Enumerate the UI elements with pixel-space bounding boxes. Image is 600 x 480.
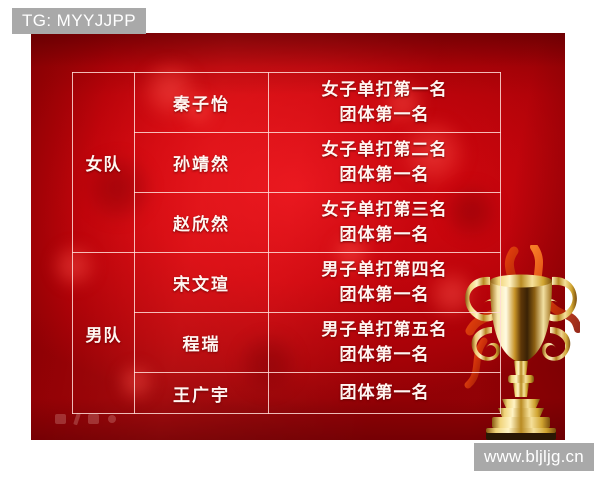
table-row: 程瑞 男子单打第五名 团体第一名 [73,313,501,373]
achievement-cell: 女子单打第二名 团体第一名 [269,133,501,193]
achievement-line: 团体第一名 [269,223,500,248]
athlete-name-cell: 赵欣然 [135,193,269,253]
achievement-line: 团体第一名 [269,343,500,368]
athlete-name-cell: 秦子怡 [135,73,269,133]
table-row: 男队 宋文瑄 男子单打第四名 团体第一名 [73,253,501,313]
achievement-cell: 女子单打第三名 团体第一名 [269,193,501,253]
achievement-line: 团体第一名 [269,283,500,308]
watermark-top-left: TG: MYYJJPP [12,8,146,34]
watermark-bottom-right: www.bljljg.cn [474,443,594,471]
achievement-line: 团体第一名 [269,381,500,406]
achievement-line: 女子单打第一名 [269,78,500,103]
athlete-name-cell: 孙靖然 [135,133,269,193]
achievement-cell: 男子单打第五名 团体第一名 [269,313,501,373]
achievement-line: 女子单打第三名 [269,198,500,223]
achievement-cell: 团体第一名 [269,373,501,414]
team-cell-womens: 女队 [73,73,135,253]
faint-watermark-glyphs [55,412,151,426]
table-row: 孙靖然 女子单打第二名 团体第一名 [73,133,501,193]
achievement-cell: 男子单打第四名 团体第一名 [269,253,501,313]
athlete-name-cell: 王广宇 [135,373,269,414]
competition-results-table: 女队 秦子怡 女子单打第一名 团体第一名 孙靖然 女子单打第二名 团体第一名 赵… [72,72,501,414]
table-row: 赵欣然 女子单打第三名 团体第一名 [73,193,501,253]
athlete-name-cell: 宋文瑄 [135,253,269,313]
table-row: 女队 秦子怡 女子单打第一名 团体第一名 [73,73,501,133]
achievement-line: 团体第一名 [269,103,500,128]
achievement-cell: 女子单打第一名 团体第一名 [269,73,501,133]
achievement-line: 男子单打第五名 [269,318,500,343]
achievement-line: 团体第一名 [269,163,500,188]
athlete-name-cell: 程瑞 [135,313,269,373]
achievement-line: 女子单打第二名 [269,138,500,163]
achievement-line: 男子单打第四名 [269,258,500,283]
team-cell-mens: 男队 [73,253,135,414]
table-row: 王广宇 团体第一名 [73,373,501,414]
